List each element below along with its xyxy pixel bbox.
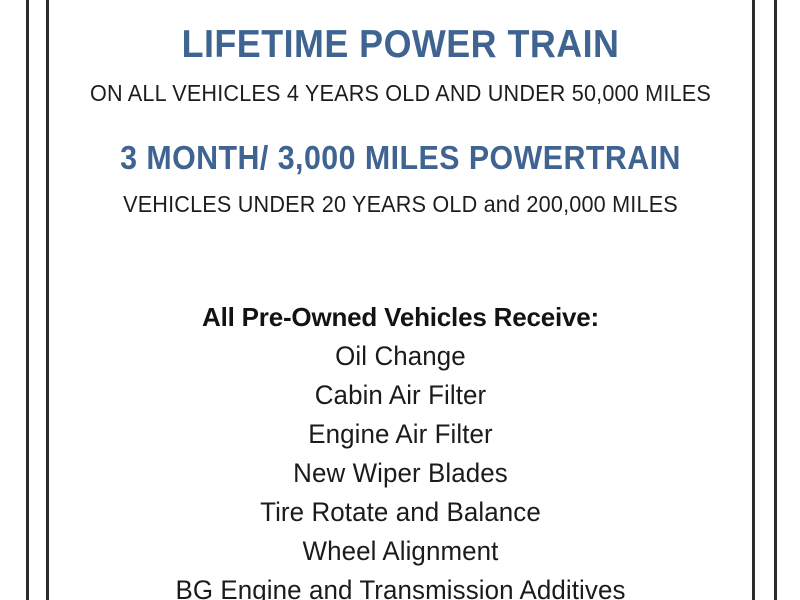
frame-rule-right-outer [774,0,777,600]
warranty-poster: LIFETIME POWER TRAIN ON ALL VEHICLES 4 Y… [0,0,800,600]
short-term-powertrain-headline: 3 MONTH/ 3,000 MILES POWERTRAIN [77,141,724,174]
lifetime-powertrain-headline: LIFETIME POWER TRAIN [77,25,724,64]
service-item-engine-air-filter: Engine Air Filter [63,415,738,454]
services-title: All Pre-Owned Vehicles Receive: [49,298,752,337]
services-section: All Pre-Owned Vehicles Receive: Oil Chan… [49,298,752,600]
frame-rule-right-inner [752,0,755,600]
service-item-cabin-air-filter: Cabin Air Filter [63,376,738,415]
service-item-tire-rotate-and-balance: Tire Rotate and Balance [63,493,738,532]
short-term-powertrain-subline: VEHICLES UNDER 20 YEARS OLD and 200,000 … [70,193,731,216]
service-item-oil-change: Oil Change [63,337,738,376]
frame-rule-left-outer [26,0,29,600]
service-item-new-wiper-blades: New Wiper Blades [63,454,738,493]
service-item-wheel-alignment: Wheel Alignment [63,532,738,571]
service-item-bg-engine-and-transmission-additives: BG Engine and Transmission Additives [63,571,738,600]
poster-content: LIFETIME POWER TRAIN ON ALL VEHICLES 4 Y… [49,0,752,600]
lifetime-powertrain-subline: ON ALL VEHICLES 4 YEARS OLD AND UNDER 50… [70,82,731,105]
